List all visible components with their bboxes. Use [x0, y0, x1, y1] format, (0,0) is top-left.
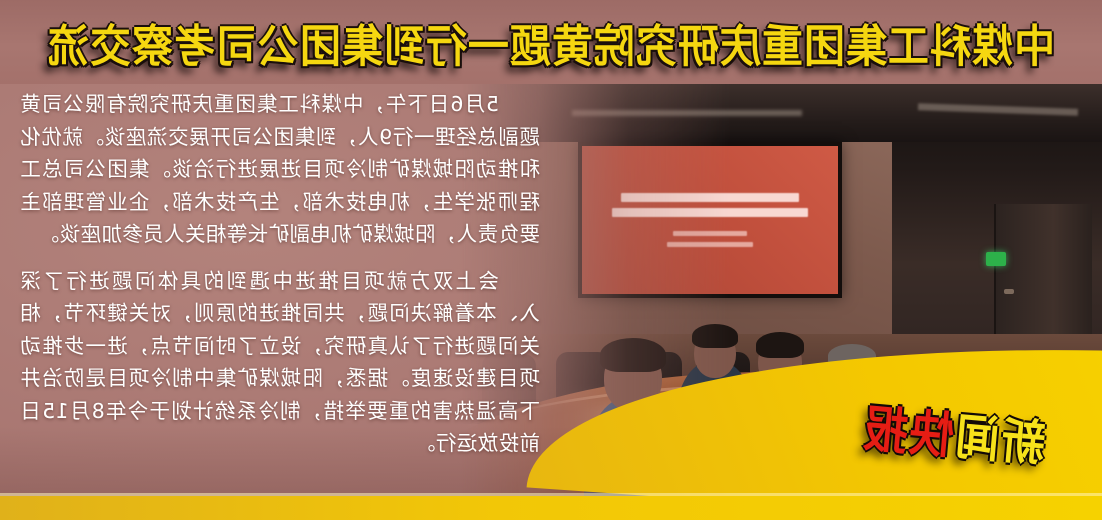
article-paragraph-1: 5月6日下午，中煤科工集团重庆研究院有限公司黄题副总经理一行9人，到集团公司开展…: [20, 88, 540, 251]
bottom-yellow-bar: [0, 496, 1102, 520]
news-banner-graphic: 中煤科工集团重庆研究院黄题一行到集团公司考察交流 5月6日下午，中煤科工集团重庆…: [0, 0, 1102, 520]
brand-part-news: 新闻: [951, 409, 1048, 474]
page-title: 中煤科工集团重庆研究院黄题一行到集团公司考察交流: [47, 10, 1055, 75]
title-banner: 中煤科工集团重庆研究院黄题一行到集团公司考察交流: [0, 0, 1102, 84]
article-body: 5月6日下午，中煤科工集团重庆研究院有限公司黄题副总经理一行9人，到集团公司开展…: [20, 88, 540, 474]
brand-part-bulletin: 快报: [859, 401, 956, 466]
article-paragraph-2: 会上双方就项目推进中遇到的具体问题进行了深入、本着解决问题，共同推进的原则，对关…: [20, 265, 540, 460]
